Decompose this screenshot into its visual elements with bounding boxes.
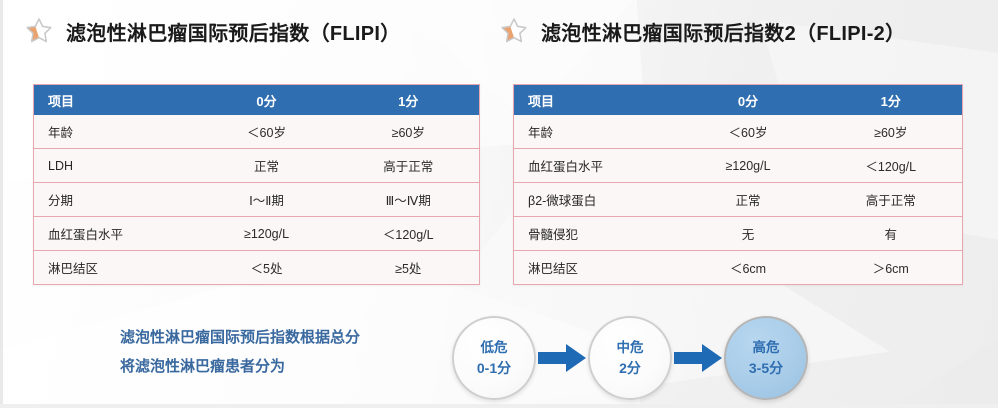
column-header-score-0: 0分 [677, 85, 820, 116]
arrow-right-icon [672, 341, 724, 375]
table-row: 淋巴结区 ＜5处 ≥5处 [34, 251, 480, 285]
flipi-title-row: 滤泡性淋巴瘤国际预后指数（FLIPI） [24, 16, 401, 46]
column-header-score-0: 0分 [196, 85, 338, 116]
flipi-score-table: 项目 0分 1分 年龄 ＜60岁 ≥60岁 LDH 正常 高于正常 分期 Ⅰ～Ⅱ… [33, 84, 480, 285]
row-score-0: ＜60岁 [196, 115, 338, 149]
table-header-row: 项目 0分 1分 [34, 85, 480, 116]
row-score-1: ≥60岁 [338, 115, 480, 149]
row-score-1: ＜120g/L [820, 149, 963, 183]
row-score-1: 高于正常 [820, 183, 963, 217]
column-header-item: 项目 [514, 85, 677, 116]
caption-line-1: 滤泡性淋巴瘤国际预后指数根据总分 [120, 323, 430, 352]
row-score-0: ＜6cm [677, 251, 820, 285]
row-score-1: ≥60岁 [820, 115, 963, 149]
row-item-label: 骨髓侵犯 [514, 217, 677, 251]
row-item-label: 血红蛋白水平 [34, 217, 196, 251]
flipi-title: 滤泡性淋巴瘤国际预后指数（FLIPI） [66, 17, 401, 46]
row-score-1: ＞6cm [820, 251, 963, 285]
risk-flow-diagram: 低危 0-1分 中危 2分 高危 3-5分 [452, 312, 812, 404]
risk-node-low: 低危 0-1分 [452, 316, 536, 400]
table-row: 骨髓侵犯 无 有 [514, 217, 963, 251]
table-row: 年龄 ＜60岁 ≥60岁 [34, 115, 480, 149]
table-row: β2-微球蛋白 正常 高于正常 [514, 183, 963, 217]
column-header-score-1: 1分 [820, 85, 963, 116]
column-header-score-1: 1分 [338, 85, 480, 116]
row-score-0: Ⅰ～Ⅱ期 [196, 183, 338, 217]
risk-node-low-score: 0-1分 [477, 358, 511, 378]
flipi2-title: 滤泡性淋巴瘤国际预后指数2（FLIPI-2） [541, 17, 905, 46]
star-icon [24, 16, 54, 46]
risk-node-high-label: 高危 [753, 338, 780, 358]
row-score-1: 高于正常 [338, 149, 480, 183]
risk-stratification-caption: 滤泡性淋巴瘤国际预后指数根据总分 将滤泡性淋巴瘤患者分为 [120, 323, 430, 381]
row-score-0: ＜60岁 [677, 115, 820, 149]
risk-node-high: 高危 3-5分 [724, 316, 808, 400]
row-item-label: 淋巴结区 [514, 251, 677, 285]
row-item-label: 分期 [34, 183, 196, 217]
row-score-1: ≥5处 [338, 251, 480, 285]
table-row: 年龄 ＜60岁 ≥60岁 [514, 115, 963, 149]
row-score-0: 正常 [196, 149, 338, 183]
row-score-1: ＜120g/L [338, 217, 480, 251]
row-score-0: 无 [677, 217, 820, 251]
star-icon [499, 16, 529, 46]
risk-node-medium-score: 2分 [619, 358, 641, 378]
row-score-1: 有 [820, 217, 963, 251]
row-score-0: ＜5处 [196, 251, 338, 285]
table-header-row: 项目 0分 1分 [514, 85, 963, 116]
row-item-label: LDH [34, 149, 196, 183]
row-item-label: 血红蛋白水平 [514, 149, 677, 183]
column-header-item: 项目 [34, 85, 196, 116]
table-row: 血红蛋白水平 ≥120g/L ＜120g/L [514, 149, 963, 183]
flipi2-score-table: 项目 0分 1分 年龄 ＜60岁 ≥60岁 血红蛋白水平 ≥120g/L ＜12… [513, 84, 963, 285]
risk-node-medium-label: 中危 [617, 338, 644, 358]
caption-line-2: 将滤泡性淋巴瘤患者分为 [120, 352, 430, 381]
row-score-0: ≥120g/L [677, 149, 820, 183]
table-row: LDH 正常 高于正常 [34, 149, 480, 183]
row-score-0: 正常 [677, 183, 820, 217]
arrow-right-icon [536, 341, 588, 375]
risk-node-low-label: 低危 [481, 338, 508, 358]
table-row: 淋巴结区 ＜6cm ＞6cm [514, 251, 963, 285]
row-score-1: Ⅲ～Ⅳ期 [338, 183, 480, 217]
row-item-label: 淋巴结区 [34, 251, 196, 285]
row-score-0: ≥120g/L [196, 217, 338, 251]
row-item-label: 年龄 [514, 115, 677, 149]
flipi2-title-row: 滤泡性淋巴瘤国际预后指数2（FLIPI-2） [499, 16, 905, 46]
risk-node-medium: 中危 2分 [588, 316, 672, 400]
row-item-label: β2-微球蛋白 [514, 183, 677, 217]
risk-node-high-score: 3-5分 [749, 358, 783, 378]
table-row: 分期 Ⅰ～Ⅱ期 Ⅲ～Ⅳ期 [34, 183, 480, 217]
table-row: 血红蛋白水平 ≥120g/L ＜120g/L [34, 217, 480, 251]
row-item-label: 年龄 [34, 115, 196, 149]
